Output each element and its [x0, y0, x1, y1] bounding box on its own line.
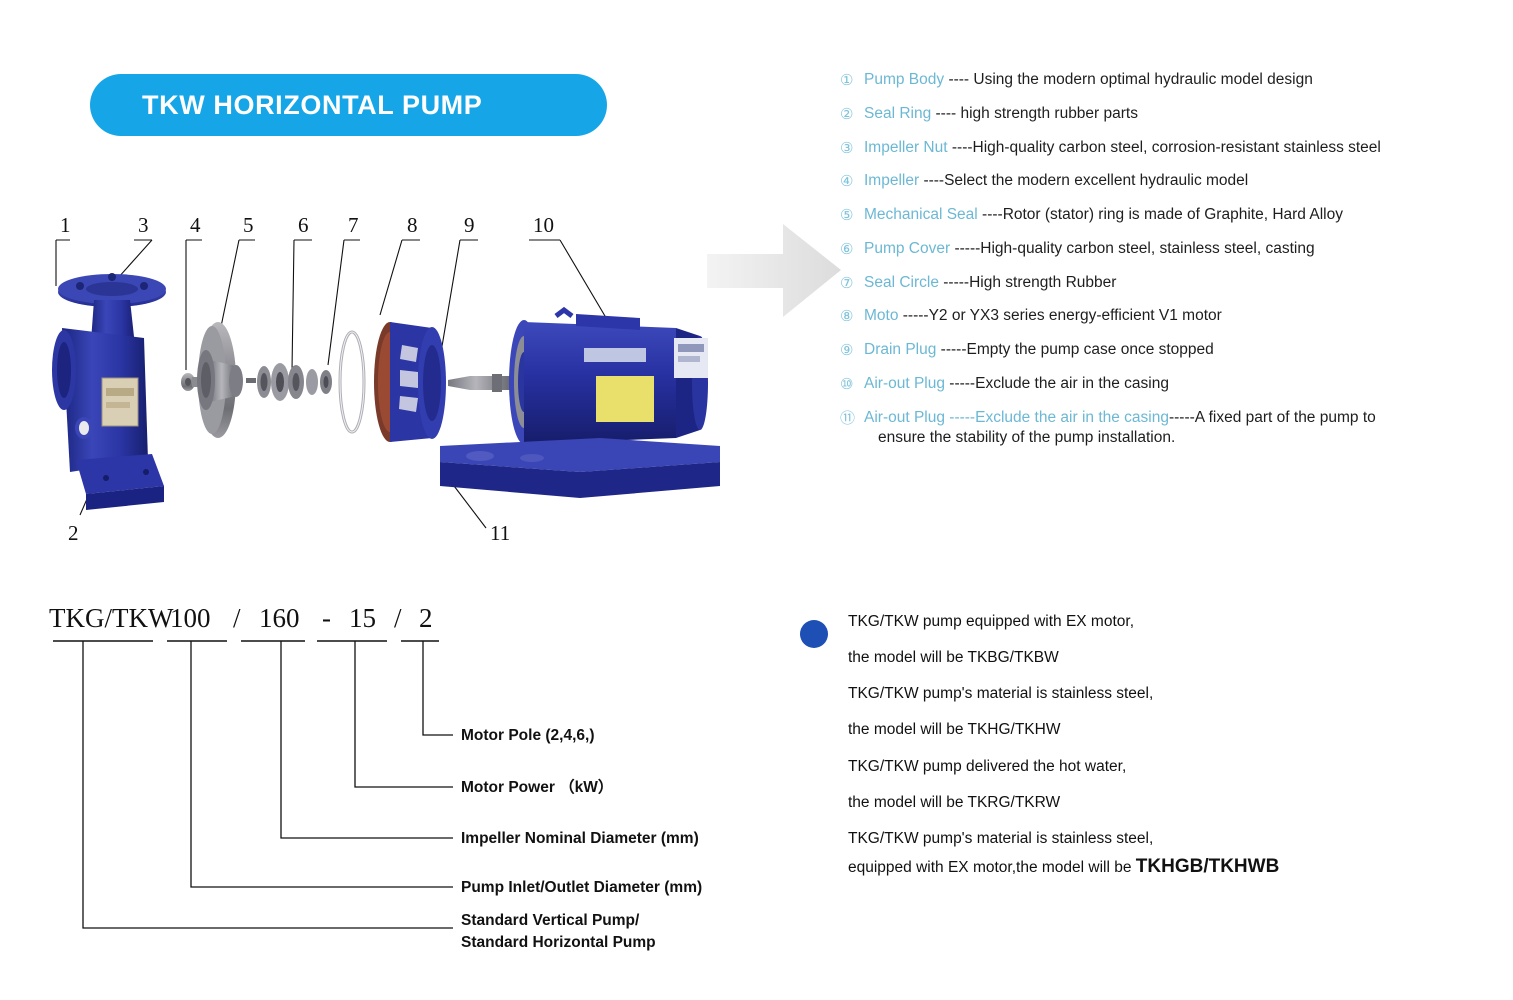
legend-description: High strength Rubber [969, 274, 1116, 291]
note-line: the model will be TKHG/TKHW [848, 720, 1380, 740]
model-code-diagram: TKG/TKW 100 / 160 - 15 / 2 [35, 595, 735, 965]
legend-separator: ---- [978, 206, 1003, 223]
model-code-impeller: 160 [259, 603, 300, 633]
legend-item: ⑪ Air-out Plug -----Exclude the air in t… [840, 408, 1500, 450]
model-callout-pump-type-line2: Standard Horizontal Pump [461, 934, 656, 951]
callout-number-6: 6 [298, 213, 309, 237]
callout-number-9: 9 [464, 213, 475, 237]
legend-number: ⑧ [840, 306, 864, 327]
note-line: TKG/TKW pump's material is stainless ste… [848, 684, 1380, 704]
legend-separator: ----- [945, 375, 975, 392]
callout-number-4: 4 [190, 213, 201, 237]
mechanical-seal-part [246, 363, 332, 401]
legend-item: ③ Impeller Nut ----High-quality carbon s… [840, 138, 1500, 159]
legend-number: ⑤ [840, 205, 864, 226]
legend-label: Moto [864, 307, 898, 324]
legend-description: Rotor (stator) ring is made of Graphite,… [1003, 206, 1343, 223]
legend-label: Seal Ring [864, 105, 931, 122]
legend-label: Drain Plug [864, 341, 936, 358]
legend-description: high strength rubber parts [960, 105, 1138, 122]
legend-item: ⑨ Drain Plug -----Empty the pump case on… [840, 340, 1500, 361]
legend-description: Empty the pump case once stopped [967, 341, 1214, 358]
legend-label: Pump Body [864, 71, 944, 88]
base-plate-part [440, 438, 720, 498]
page-title: TKW HORIZONTAL PUMP [90, 90, 482, 121]
model-variant-notes: TKG/TKW pump equipped with EX motor, the… [800, 612, 1380, 896]
legend-separator: ---- [919, 172, 944, 189]
model-code-dash: - [322, 603, 331, 633]
legend-separator: ----- [939, 274, 969, 291]
legend-number: ⑥ [840, 239, 864, 260]
motor-part [509, 310, 708, 444]
legend-number: ⑩ [840, 374, 864, 395]
model-callout-pump-type-line1: Standard Vertical Pump/ [461, 912, 640, 929]
legend-item: ② Seal Ring ---- high strength rubber pa… [840, 104, 1500, 125]
legend-description: Exclude the air in the casing [975, 375, 1169, 392]
model-code-prefix: TKG/TKW [49, 603, 174, 633]
callout-number-10: 10 [533, 213, 554, 237]
note-line: TKG/TKW pump delivered the hot water, [848, 757, 1380, 777]
callout-number-2: 2 [68, 521, 79, 545]
note-line-final: equipped with EX motor,the model will be… [848, 855, 1380, 880]
legend-separator: ----- [898, 307, 928, 324]
legend-label: Pump Cover [864, 240, 950, 257]
parts-legend-list: ① Pump Body ---- Using the modern optima… [840, 70, 1500, 462]
note-line: the model will be TKBG/TKBW [848, 648, 1380, 668]
seal-circle-part [340, 332, 364, 432]
bullet-icon [800, 620, 828, 648]
model-callout-motor-power: Motor Power （kW） [461, 778, 613, 796]
legend-separator: ---- [948, 139, 973, 156]
legend-item: ⑦ Seal Circle -----High strength Rubber [840, 273, 1500, 294]
model-callout-impeller-diameter: Impeller Nominal Diameter (mm) [461, 830, 699, 847]
legend-number: ③ [840, 138, 864, 159]
exploded-pump-diagram: 1 3 4 5 6 7 8 9 10 [40, 210, 730, 560]
legend-label: Impeller [864, 172, 919, 189]
legend-separator: ---- [944, 71, 973, 88]
legend-number: ① [840, 70, 864, 91]
callout-number-1: 1 [60, 213, 71, 237]
model-code-slash-2: / [394, 603, 402, 633]
legend-number: ② [840, 104, 864, 125]
product-spec-page: TKW HORIZONTAL PUMP [0, 0, 1513, 1000]
note-line: the model will be TKRG/TKRW [848, 793, 1380, 813]
model-code-pole: 2 [419, 603, 433, 633]
legend-separator: ----- [945, 409, 975, 426]
legend-number: ④ [840, 171, 864, 192]
motor-shaft-part [448, 374, 510, 392]
legend-separator-2: ----- [1169, 409, 1195, 426]
legend-number: ⑪ [840, 408, 864, 429]
legend-description: Using the modern optimal hydraulic model… [973, 71, 1312, 88]
legend-item: ⑤ Mechanical Seal ----Rotor (stator) rin… [840, 205, 1500, 226]
note-model-code: TKHGB/TKHWB [1136, 856, 1280, 877]
legend-number: ⑨ [840, 340, 864, 361]
note-line: TKG/TKW pump's material is stainless ste… [848, 829, 1380, 849]
legend-label: Seal Circle [864, 274, 939, 291]
legend-description: High-quality carbon steel, stainless ste… [980, 240, 1314, 257]
legend-item: ⑩ Air-out Plug -----Exclude the air in t… [840, 374, 1500, 395]
callout-number-7: 7 [348, 213, 359, 237]
model-code-inlet: 100 [170, 603, 211, 633]
pump-body-part [52, 273, 166, 510]
impeller-part [197, 322, 243, 438]
legend-item: ⑥ Pump Cover -----High-quality carbon st… [840, 239, 1500, 260]
model-code-slash-1: / [233, 603, 241, 633]
legend-description: Select the modern excellent hydraulic mo… [944, 172, 1248, 189]
legend-description-continued: ensure the stability of the pump install… [864, 428, 1500, 449]
legend-label: Air-out Plug [864, 375, 945, 392]
model-callout-motor-pole: Motor Pole (2,4,6,) [461, 727, 595, 744]
callout-number-3: 3 [138, 213, 149, 237]
callout-number-11: 11 [490, 521, 510, 545]
legend-number: ⑦ [840, 273, 864, 294]
legend-item: ⑧ Moto -----Y2 or YX3 series energy-effi… [840, 306, 1500, 327]
legend-separator: ---- [931, 105, 960, 122]
legend-item: ④ Impeller ----Select the modern excelle… [840, 171, 1500, 192]
page-title-banner: TKW HORIZONTAL PUMP [90, 74, 607, 136]
legend-label: Mechanical Seal [864, 206, 978, 223]
legend-description: A fixed part of the pump to [1195, 409, 1376, 426]
legend-description: Y2 or YX3 series energy-efficient V1 mot… [929, 307, 1222, 324]
model-code-power: 15 [349, 603, 376, 633]
legend-description: High-quality carbon steel, corrosion-res… [973, 139, 1381, 156]
callout-number-8: 8 [407, 213, 418, 237]
pump-cover-part [374, 322, 446, 442]
legend-description-blue: Exclude the air in the casing [975, 409, 1169, 426]
model-callout-inlet-diameter: Pump Inlet/Outlet Diameter (mm) [461, 879, 702, 896]
callout-number-5: 5 [243, 213, 254, 237]
legend-label: Air-out Plug [864, 409, 945, 426]
legend-label: Impeller Nut [864, 139, 948, 156]
note-line-text: equipped with EX motor,the model will be [848, 859, 1136, 876]
flow-arrow-icon [705, 218, 845, 323]
legend-separator: ----- [950, 240, 980, 257]
note-line: TKG/TKW pump equipped with EX motor, [848, 612, 1380, 632]
legend-item: ① Pump Body ---- Using the modern optima… [840, 70, 1500, 91]
legend-separator: ----- [936, 341, 966, 358]
